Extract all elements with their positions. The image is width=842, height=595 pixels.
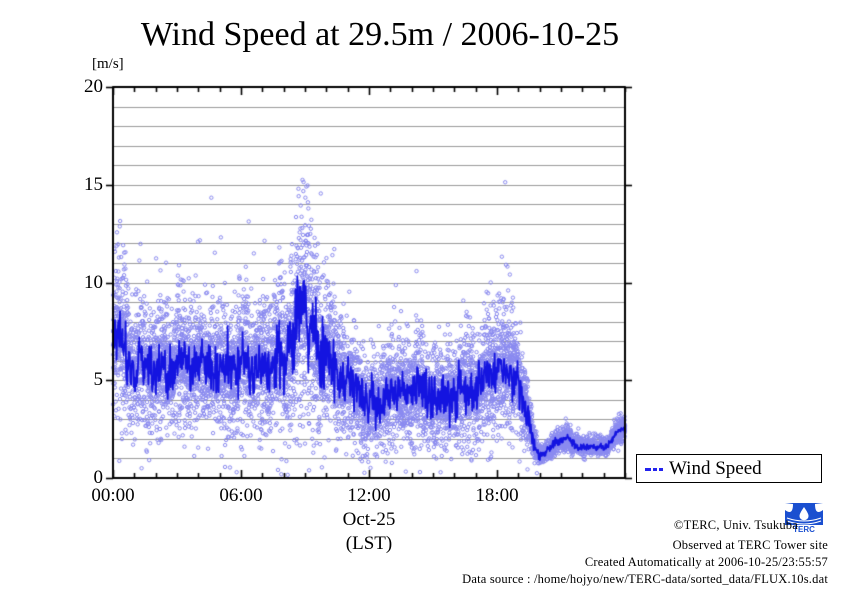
y-axis-unit-label: [m/s] (92, 56, 124, 73)
x-axis-tick-label: 12:00 (324, 486, 414, 505)
legend-line-sample-icon (645, 468, 663, 471)
x-axis-tick-label: 00:00 (68, 486, 158, 505)
x-axis-timezone-caption: (LST) (309, 534, 429, 553)
footer-data-source: Data source : /home/hojyo/new/TERC-data/… (462, 572, 828, 587)
y-axis-tick-label: 20 (65, 77, 103, 96)
y-axis-tick-label: 10 (65, 273, 103, 292)
footer-copyright: ©TERC, Univ. Tsukuba (674, 518, 798, 533)
footer-created-at: Created Automatically at 2006-10-25/23:5… (585, 555, 828, 570)
x-axis-tick-label: 06:00 (196, 486, 286, 505)
wind-speed-figure: Wind Speed at 29.5m / 2006-10-25 [m/s] 0… (0, 0, 842, 595)
legend-item-label: Wind Speed (669, 458, 762, 480)
legend[interactable]: Wind Speed (636, 454, 822, 483)
y-axis-tick-label: 15 (65, 175, 103, 194)
x-axis-tick-label: 18:00 (452, 486, 542, 505)
x-axis-date-caption: Oct-25 (309, 510, 429, 529)
footer-observed-at: Observed at TERC Tower site (673, 538, 828, 553)
y-axis-tick-label: 5 (65, 370, 103, 389)
page-title: Wind Speed at 29.5m / 2006-10-25 (0, 16, 760, 54)
